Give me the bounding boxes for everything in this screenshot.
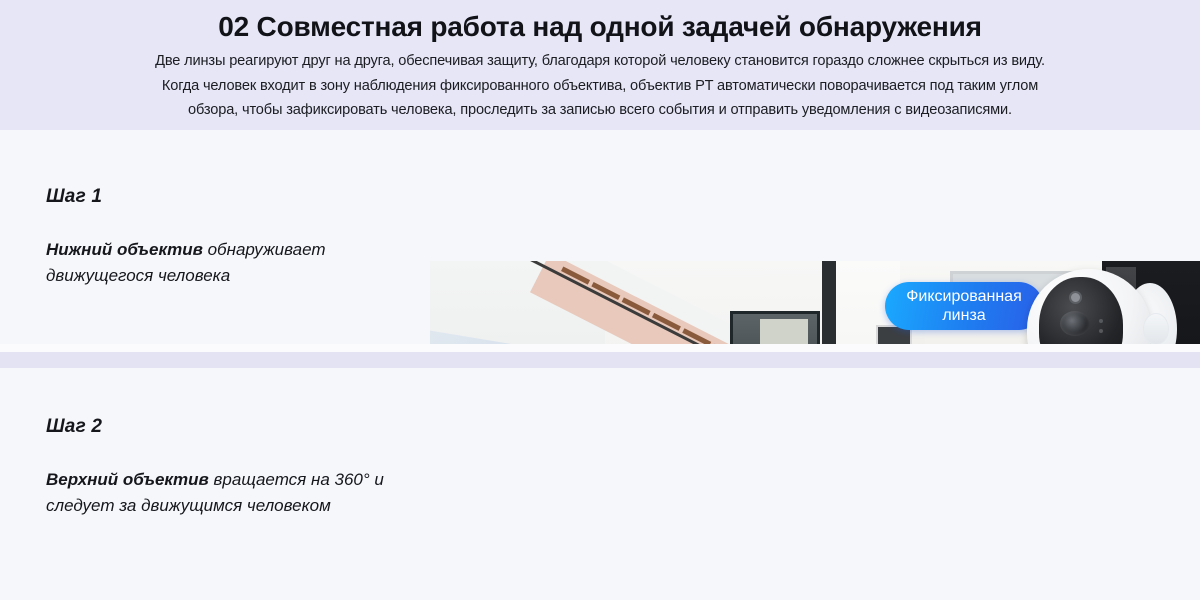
step-1-description: Нижний объектив обнаруживает движущегося… [46, 237, 416, 289]
header-paragraph-line-3: обзора, чтобы зафиксировать человека, пр… [14, 97, 1186, 122]
panel-separator [0, 352, 1200, 368]
camera-sensor-icon [1069, 291, 1082, 304]
step-2-description-bold: Верхний объектив [46, 470, 209, 489]
step-2-panel: Шаг 2 Верхний объектив вращается на 360°… [0, 368, 1200, 600]
page-title: 02 Совместная работа над одной задачей о… [14, 6, 1186, 48]
camera-dot-icon-b [1099, 329, 1103, 333]
header-paragraph-line-2: Когда человек входит в зону наблюдения ф… [14, 73, 1186, 98]
step-1-text-column: Шаг 1 Нижний объектив обнаруживает движу… [46, 186, 416, 289]
step-2-description: Верхний объектив вращается на 360° и сле… [46, 467, 416, 519]
panel-gap [0, 344, 1200, 352]
step-1-label: Шаг 1 [46, 186, 416, 208]
camera-dot-icon-a [1099, 319, 1103, 323]
camera-side-knob [1143, 313, 1169, 345]
step-2-text-column: Шаг 2 Верхний объектив вращается на 360°… [46, 416, 416, 519]
header-paragraph-line-1: Две линзы реагируют друг на друга, обесп… [14, 48, 1186, 73]
step-1-description-bold: Нижний объектив [46, 240, 203, 259]
infographic-page: 02 Совместная работа над одной задачей о… [0, 0, 1200, 600]
header-band: 02 Совместная работа над одной задачей о… [0, 0, 1200, 130]
camera-top-lens [1060, 311, 1090, 336]
step-1-panel: Шаг 1 Нижний объектив обнаруживает движу… [0, 130, 1200, 352]
step-2-label: Шаг 2 [46, 416, 416, 438]
